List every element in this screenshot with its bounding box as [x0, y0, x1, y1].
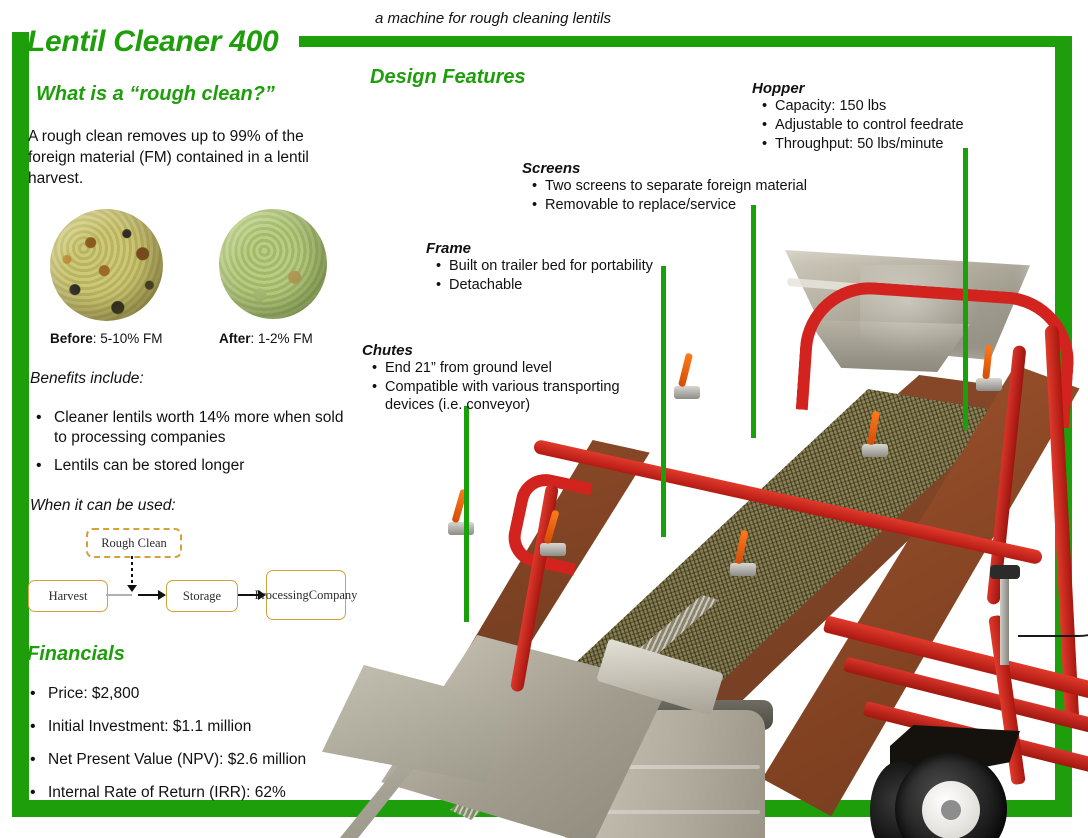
machine-red-guard-rail-top — [796, 278, 1079, 429]
frame-border-left — [12, 32, 29, 817]
before-value: : 5-10% FM — [93, 331, 163, 346]
callout-bullets: Built on trailer bed for portability Det… — [426, 257, 653, 295]
list-item: Capacity: 150 lbs — [762, 97, 964, 116]
trailer-cable — [1018, 555, 1088, 637]
flow-node-storage: Storage — [166, 580, 238, 612]
flow-node-rough-clean: Rough Clean — [86, 528, 182, 558]
lentil-cleaner-machine-photo — [300, 225, 1088, 838]
callout-bullets: End 21” from ground level Compatible wit… — [362, 359, 642, 414]
page-subtitle: a machine for rough cleaning lentils — [375, 10, 611, 27]
list-item: Throughput: 50 lbs/minute — [762, 135, 964, 154]
flow-connector-to-processing — [238, 594, 260, 596]
page-title: Lentil Cleaner 400 — [27, 25, 278, 59]
benefits-lead-in: Benefits include: — [30, 370, 144, 388]
before-label: Before — [50, 331, 93, 346]
leader-line-hopper — [963, 148, 968, 430]
trailer-wheel-nut — [941, 800, 961, 820]
list-item: Compatible with various transporting dev… — [372, 378, 635, 414]
list-item: Adjustable to control feedrate — [762, 116, 964, 135]
callout-chutes: Chutes End 21” from ground level Compati… — [362, 342, 642, 414]
after-label: After — [219, 331, 251, 346]
flow-connector-dotted-rough-clean — [131, 556, 133, 586]
flow-connector-to-storage — [138, 594, 160, 596]
flow-connector-harvest-gray — [106, 594, 132, 596]
section-heading-rough-clean: What is a “rough clean?” — [36, 83, 275, 106]
list-item: Built on trailer bed for portability — [436, 257, 653, 276]
callout-frame: Frame Built on trailer bed for portabili… — [426, 240, 653, 295]
leader-line-frame — [661, 266, 666, 537]
list-item: Lentils can be stored longer — [34, 456, 344, 476]
arrow-head-icon — [158, 590, 166, 600]
after-lentils-caption: After: 1-2% FM — [219, 331, 313, 346]
callout-bullets: Two screens to separate foreign material… — [522, 177, 807, 215]
list-item: End 21” from ground level — [372, 359, 642, 378]
callout-bullets: Capacity: 150 lbs Adjustable to control … — [752, 97, 964, 154]
flow-node-harvest: Harvest — [28, 580, 108, 612]
leader-line-screens — [751, 205, 756, 438]
callout-screens: Screens Two screens to separate foreign … — [522, 160, 807, 215]
section-heading-design-features: Design Features — [370, 66, 526, 89]
before-lentils-image — [50, 209, 163, 321]
list-item: Detachable — [436, 276, 653, 295]
callout-title: Screens — [522, 160, 807, 177]
section-heading-financials: Financials — [27, 643, 125, 666]
benefits-list: Cleaner lentils worth 14% more when sold… — [34, 408, 344, 484]
leader-line-chutes — [464, 406, 469, 622]
callout-title: Chutes — [362, 342, 642, 359]
callout-title: Hopper — [752, 80, 964, 97]
list-item: Two screens to separate foreign material — [532, 177, 807, 196]
list-item: Removable to replace/service — [532, 196, 807, 215]
trailer-jack-handle — [990, 565, 1020, 579]
when-used-lead-in: When it can be used: — [30, 497, 176, 515]
poster-canvas: Lentil Cleaner 400 a machine for rough c… — [0, 0, 1088, 838]
callout-hopper: Hopper Capacity: 150 lbs Adjustable to c… — [752, 80, 964, 154]
list-item: Cleaner lentils worth 14% more when sold… — [34, 408, 344, 448]
arrow-head-icon — [258, 590, 266, 600]
callout-title: Frame — [426, 240, 653, 257]
before-lentils-caption: Before: 5-10% FM — [50, 331, 163, 346]
rough-clean-intro-text: A rough clean removes up to 99% of the f… — [28, 126, 340, 189]
arrow-head-down-icon — [127, 585, 137, 592]
frame-border-top — [299, 36, 1072, 47]
trailer-jack — [1000, 575, 1009, 665]
